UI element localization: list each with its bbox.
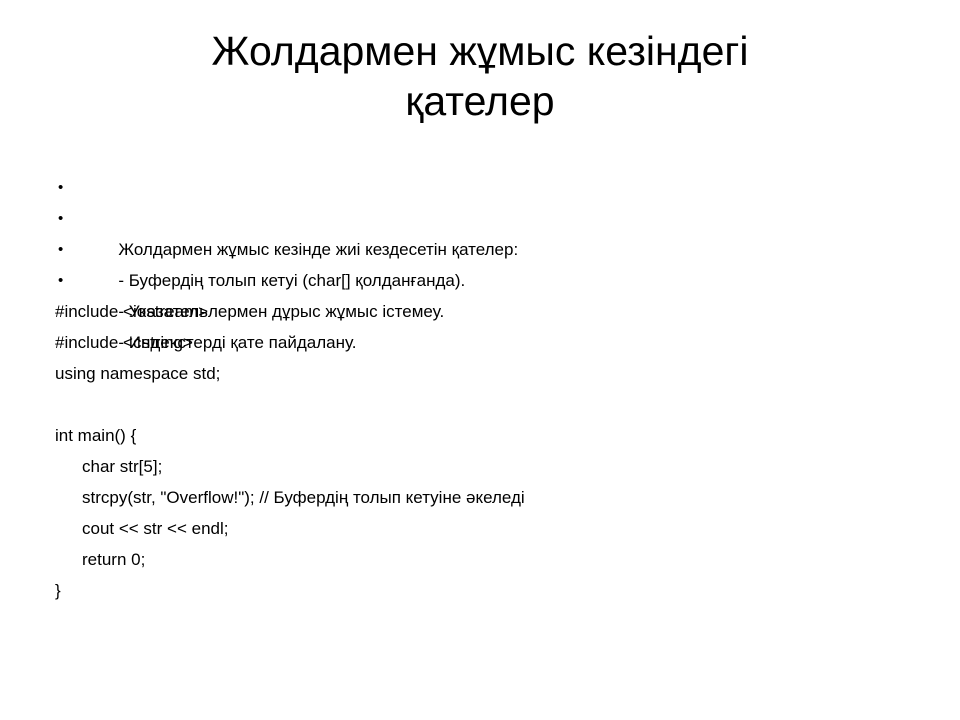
- code-line-blank: [55, 389, 915, 420]
- bullet-point-icon: •: [58, 203, 72, 234]
- bullet-point-icon: •: [58, 265, 72, 296]
- slide-canvas: Жолдармен жұмыс кезіндегі қателер • Жолд…: [0, 0, 960, 720]
- bullet-point-icon: •: [58, 172, 72, 203]
- code-line: #include <cstring>: [55, 327, 915, 358]
- code-line: cout << str << endl;: [55, 513, 915, 544]
- code-line: strcpy(str, "Overflow!"); // Буфердің то…: [55, 482, 915, 513]
- slide-title-line-2: қателер: [80, 76, 880, 126]
- slide-title-line-1: Жолдармен жұмыс кезіндегі: [80, 26, 880, 76]
- code-line: char str[5];: [55, 451, 915, 482]
- bullet-list-item: • Жолдармен жұмыс кезінде жиі кездесетін…: [55, 172, 915, 203]
- slide-title: Жолдармен жұмыс кезіндегі қателер: [80, 26, 880, 126]
- code-line: #include <iostream>: [55, 296, 915, 327]
- code-line: int main() {: [55, 420, 915, 451]
- bullet-point-icon: •: [58, 234, 72, 265]
- code-line: using namespace std;: [55, 358, 915, 389]
- code-line: return 0;: [55, 544, 915, 575]
- slide-body: • Жолдармен жұмыс кезінде жиі кездесетін…: [55, 172, 915, 606]
- bullet-list-item: • - Индекстерді қате пайдалану.: [55, 265, 915, 296]
- bullet-list-item: • - Буфердің толып кетуі (char[] қолданғ…: [55, 203, 915, 234]
- code-line: }: [55, 575, 915, 606]
- bullet-list-item: • - Указательлермен дұрыс жұмыс істемеу.: [55, 234, 915, 265]
